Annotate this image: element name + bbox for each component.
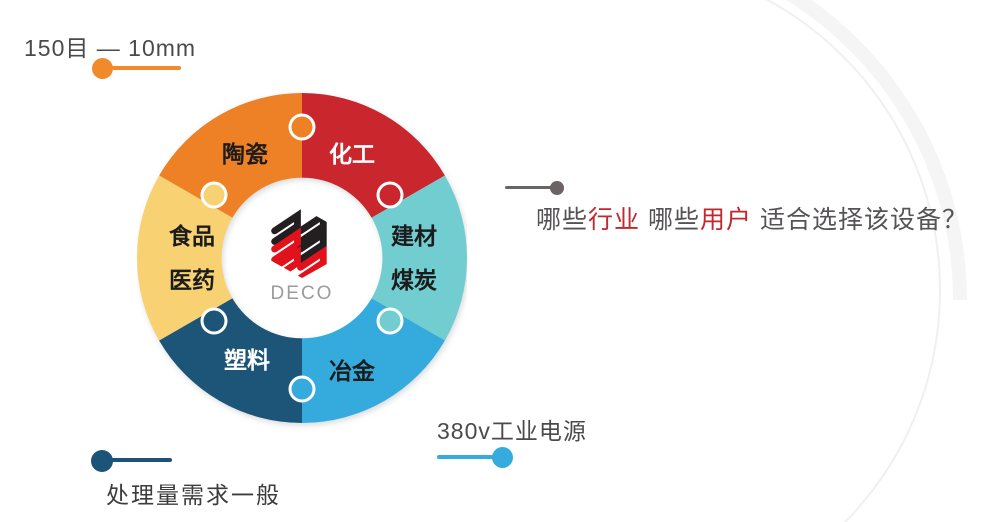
center-logo: DECO xyxy=(252,205,352,325)
question-highlight-industry: 行业 xyxy=(588,206,640,234)
callout-question-label: 哪些行业 哪些用户 适合选择该设备？ xyxy=(536,200,968,236)
callout-question-dot xyxy=(550,181,564,195)
callout-question-line xyxy=(505,186,555,189)
wheel-label-coal: 煤炭 xyxy=(391,267,437,293)
question-highlight-user: 用户 xyxy=(700,206,752,234)
wheel-label-building: 建材 xyxy=(391,223,437,249)
callout-power-label: 380v工业电源 xyxy=(437,412,587,446)
wheel-knob-ceramics-food xyxy=(201,182,228,209)
wheel-label-pharma: 医药 xyxy=(169,267,215,293)
question-prefix: 哪些 xyxy=(536,206,588,234)
deco-hex-logo-icon xyxy=(264,205,340,281)
callout-mesh-dot xyxy=(92,58,113,79)
callout-power-dot xyxy=(492,447,513,468)
question-suffix: 适合选择该设备？ xyxy=(752,206,968,234)
callout-capacity-label: 处理量需求一般 xyxy=(106,476,281,510)
infographic-canvas: 陶瓷 化工 建材 煤炭 xyxy=(0,0,1000,522)
deco-wordmark: DECO xyxy=(271,283,334,305)
wheel-label-plastics: 塑料 xyxy=(224,347,270,373)
question-middle: 哪些 xyxy=(640,206,700,234)
wheel-label-chemical: 化工 xyxy=(329,141,375,167)
wheel-label-metallurgy: 冶金 xyxy=(329,358,376,384)
wheel-label-food: 食品 xyxy=(169,223,215,249)
callout-mesh-label: 150目 — 10mm xyxy=(24,29,196,63)
wheel-label-ceramics: 陶瓷 xyxy=(222,141,268,167)
callout-mesh-line xyxy=(103,66,181,70)
callout-capacity-dot xyxy=(91,450,113,472)
